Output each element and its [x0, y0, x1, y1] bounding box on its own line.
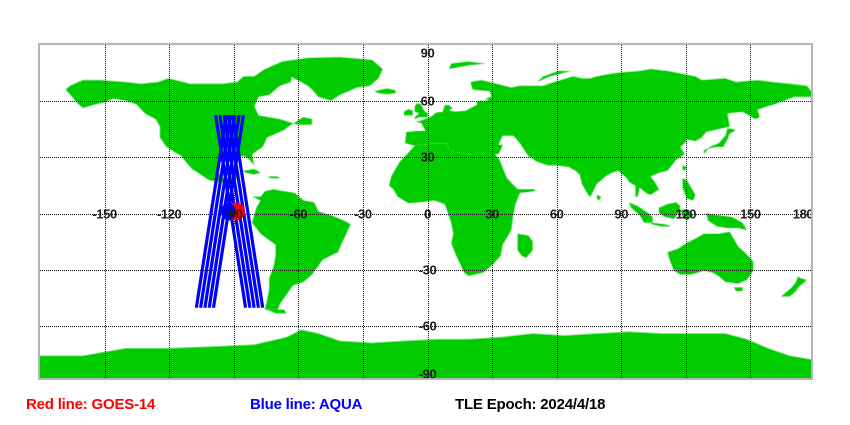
lat-tick-60: 60 [421, 94, 435, 109]
legend-bar: Red line: GOES-14 Blue line: AQUA TLE Ep… [0, 396, 850, 422]
lon-tick-60: 60 [550, 206, 564, 221]
lon-tick--60: -60 [290, 206, 308, 221]
lat-tick--60: -60 [419, 318, 437, 333]
lon-tick-150: 150 [740, 206, 761, 221]
world-map-figure: 9060300-30-60-90-300306090120150180-150-… [0, 0, 850, 425]
lon-tick--120: -120 [157, 206, 181, 221]
lat-tick-30: 30 [421, 150, 435, 165]
lon-tick-0: 0 [424, 206, 431, 221]
lon-tick-180: 180 [793, 206, 813, 221]
lat-tick--90: -90 [419, 367, 437, 381]
lon-tick--30: -30 [354, 206, 372, 221]
map-plot-area[interactable]: 9060300-30-60-90-300306090120150180-150-… [38, 43, 813, 380]
lat-tick-90: 90 [421, 46, 435, 61]
lon-tick-120: 120 [676, 206, 697, 221]
legend-red-line-goes14: Red line: GOES-14 [26, 396, 155, 413]
legend-tle-epoch: TLE Epoch: 2024/4/18 [455, 396, 605, 413]
lon-tick-30: 30 [485, 206, 499, 221]
lat-tick--30: -30 [419, 262, 437, 277]
lon-tick--90: -90 [225, 206, 243, 221]
lon-tick--150: -150 [92, 206, 116, 221]
lon-tick-90: 90 [614, 206, 628, 221]
legend-blue-line-aqua: Blue line: AQUA [250, 396, 362, 413]
